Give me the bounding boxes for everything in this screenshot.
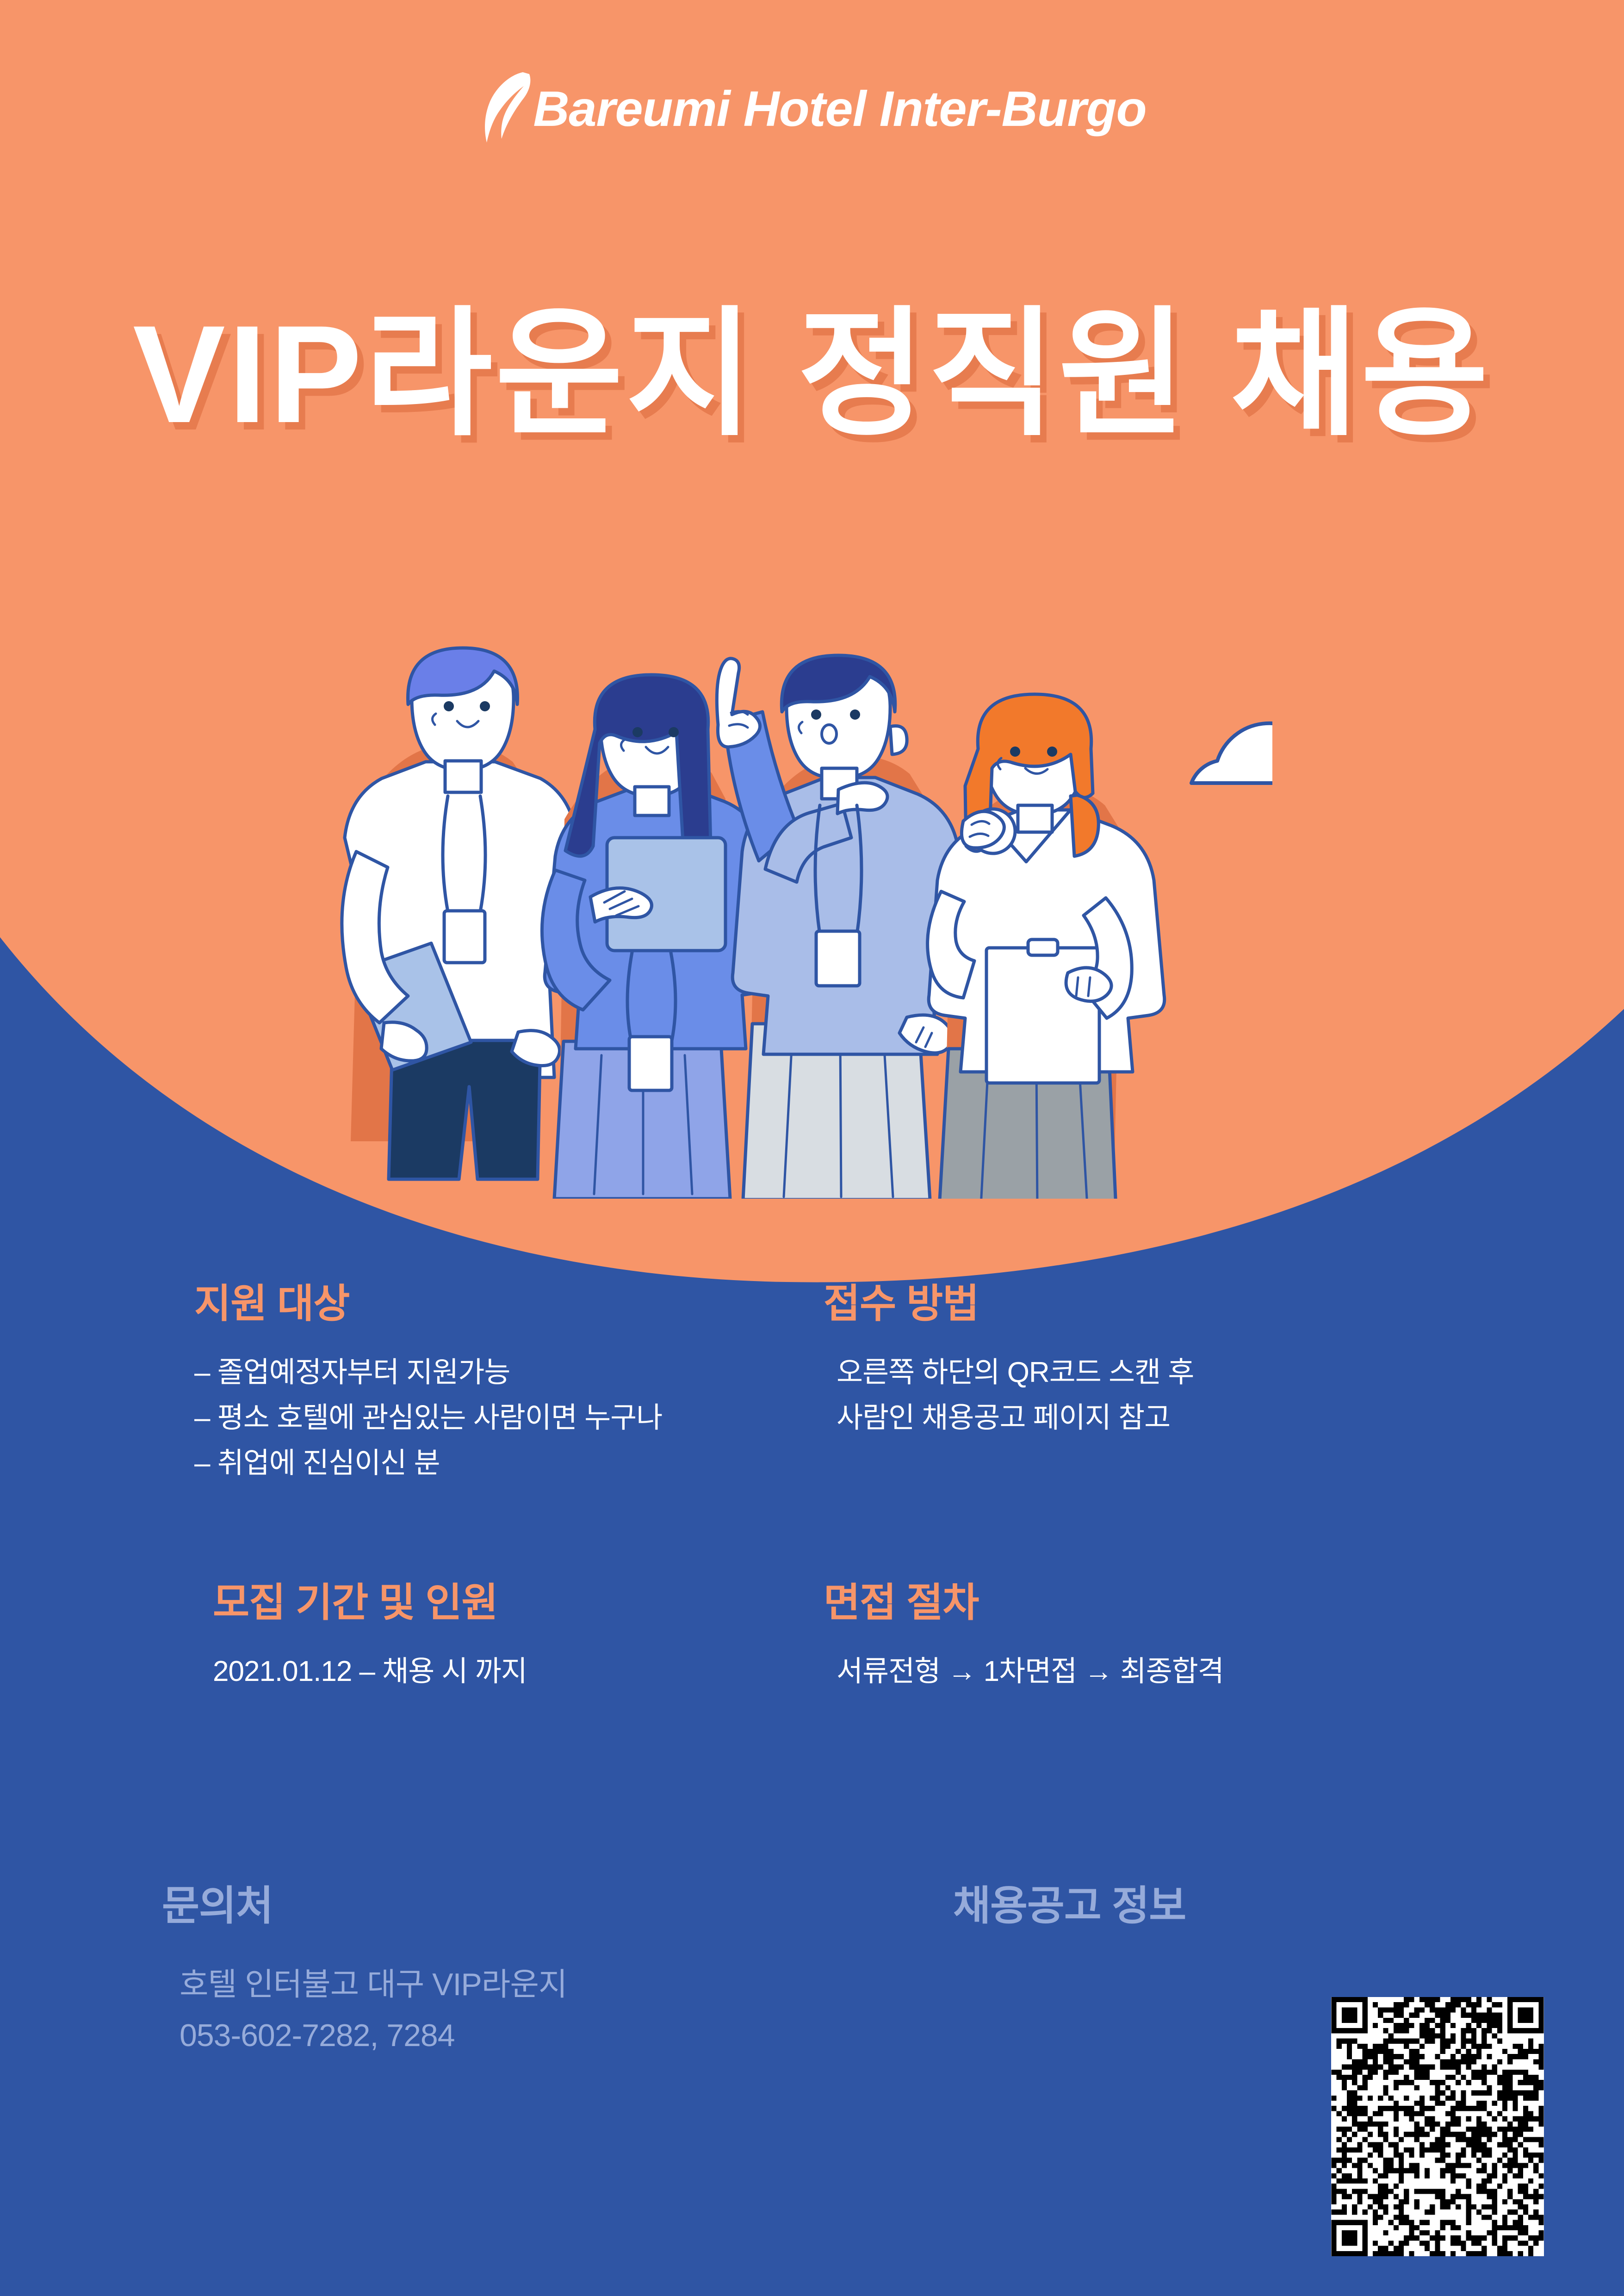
section-interview-body: 서류전형 → 1차면접 → 최종합격 (824, 1649, 1624, 1694)
feather-icon (477, 69, 533, 148)
eligibility-line-3: – 취업에 진심이신 분 (194, 1441, 787, 1486)
footer-contact-heading: 문의처 (162, 1884, 814, 1929)
info-sections: 지원 대상 – 졸업예정자부터 지원가능 – 평소 호텔에 관심있는 사람이면 … (0, 1282, 1624, 1694)
cloud-white-right (1191, 723, 1272, 783)
section-period-body: 2021.01.12 – 채용 시 까지 (213, 1649, 787, 1694)
four-people-illustration: .ln { fill:none; stroke:#2F55A4; stroke-… (301, 643, 1272, 1199)
how-to-apply-line-1: 오른쪽 하단의 QR코드 스캔 후 (837, 1350, 1624, 1395)
qr-code[interactable] (1331, 1997, 1544, 2256)
section-eligibility-body: – 졸업예정자부터 지원가능 – 평소 호텔에 관심있는 사람이면 누구나 – … (194, 1350, 787, 1486)
eligibility-line-1: – 졸업예정자부터 지원가능 (194, 1350, 787, 1395)
section-how-to-apply-heading: 접수 방법 (824, 1282, 1624, 1326)
poster-title: VIP라운지 정직원 채용 (0, 296, 1624, 452)
section-period: 모집 기간 및 인원 2021.01.12 – 채용 시 까지 (0, 1581, 787, 1694)
period-line-1: 2021.01.12 – 채용 시 까지 (213, 1649, 787, 1694)
interview-line-1: 서류전형 → 1차면접 → 최종합격 (837, 1649, 1624, 1694)
poster-root: Bareumi Hotel Inter-Burgo VIP라운지 정직원 채용 … (0, 0, 1624, 2296)
person-woman-orange-hair (928, 694, 1165, 1199)
section-gap (0, 1486, 1624, 1581)
section-eligibility-heading: 지원 대상 (194, 1282, 787, 1326)
how-to-apply-line-2: 사람인 채용공고 페이지 참고 (837, 1395, 1624, 1441)
section-how-to-apply-body: 오른쪽 하단의 QR코드 스캔 후 사람인 채용공고 페이지 참고 (824, 1350, 1624, 1441)
contact-phone: 053-602-7282, 7284 (180, 2010, 814, 2061)
eligibility-line-2: – 평소 호텔에 관심있는 사람이면 누구나 (194, 1395, 787, 1441)
footer-posting-heading: 채용공고 정보 (953, 1884, 1624, 1929)
footer-contact-body: 호텔 인터불고 대구 VIP라운지 053-602-7282, 7284 (162, 1959, 814, 2061)
footer-contact: 문의처 호텔 인터불고 대구 VIP라운지 053-602-7282, 7284 (0, 1884, 814, 2061)
qr-code-image (1331, 1997, 1544, 2256)
poster-title-text: VIP라운지 정직원 채용 (133, 296, 1491, 452)
brand-logo: Bareumi Hotel Inter-Burgo (0, 69, 1624, 148)
contact-location: 호텔 인터불고 대구 VIP라운지 (180, 1959, 814, 2010)
section-interview-heading: 면접 절차 (824, 1581, 1624, 1625)
section-eligibility: 지원 대상 – 졸업예정자부터 지원가능 – 평소 호텔에 관심있는 사람이면 … (0, 1282, 787, 1486)
info-row-1: 지원 대상 – 졸업예정자부터 지원가능 – 평소 호텔에 관심있는 사람이면 … (0, 1282, 1624, 1486)
brand-logo-text: Bareumi Hotel Inter-Burgo (533, 84, 1146, 134)
info-row-2: 모집 기간 및 인원 2021.01.12 – 채용 시 까지 면접 절차 서류… (0, 1581, 1624, 1694)
section-period-heading: 모집 기간 및 인원 (213, 1581, 787, 1625)
section-interview: 면접 절차 서류전형 → 1차면접 → 최종합격 (787, 1581, 1624, 1694)
section-how-to-apply: 접수 방법 오른쪽 하단의 QR코드 스캔 후 사람인 채용공고 페이지 참고 (787, 1282, 1624, 1486)
